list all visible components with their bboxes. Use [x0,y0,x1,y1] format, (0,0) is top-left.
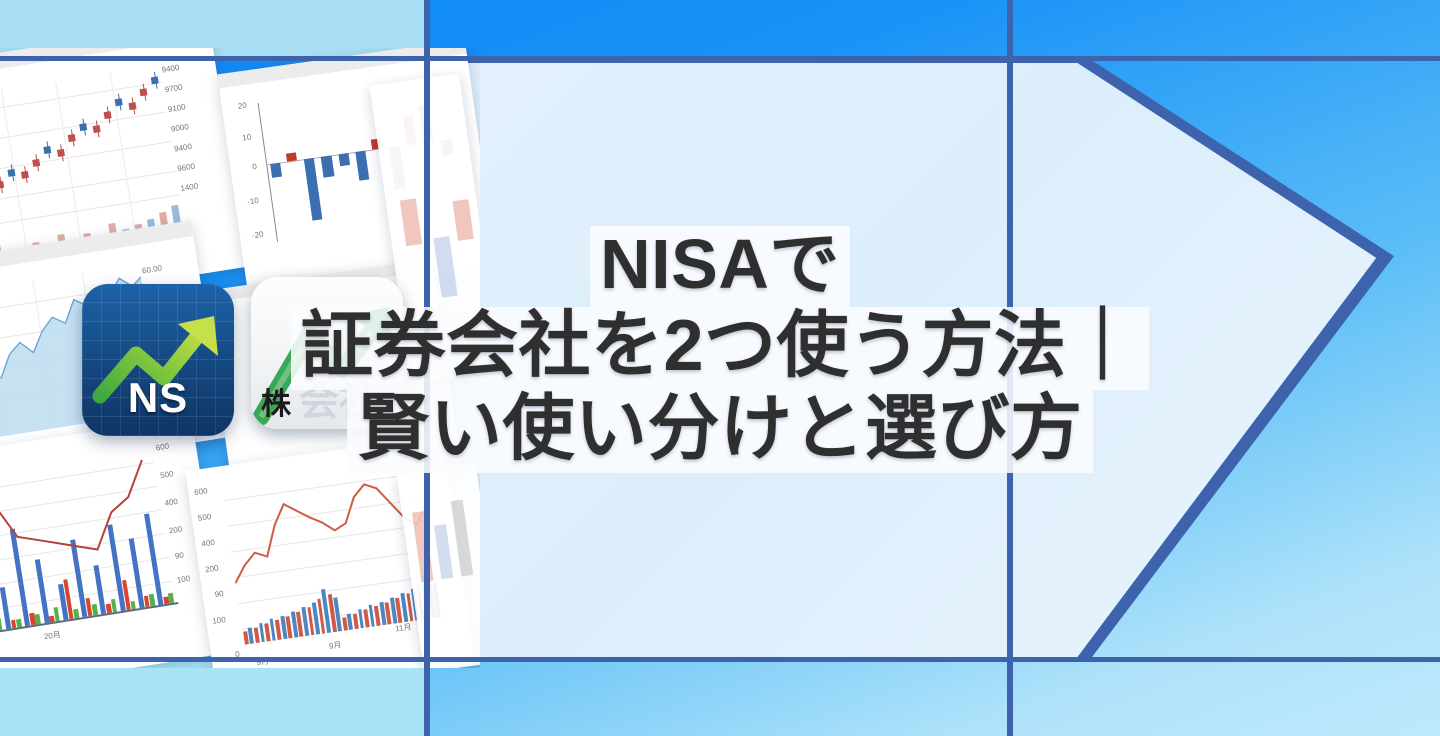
y-tick: 20 [237,101,247,111]
y-tick: 600 [194,486,208,497]
y-tick: -10 [247,196,260,207]
x-tick: 9月 [328,639,342,652]
y-tick: 9100 [167,102,186,114]
grid-line-horizontal-top [0,56,1440,61]
bar [355,151,369,181]
x-tick: 20月 [43,629,61,643]
y-tick: 9400 [174,142,193,154]
bar [321,155,334,178]
y-tick: 500 [197,512,211,523]
title-line-3-row: 賢い使い分けと選び方 [0,390,1440,473]
y-tick: 9400 [161,63,180,75]
y-tick: 9600 [177,162,196,174]
y-tick: 200 [205,564,219,575]
y-tick: 10 [242,132,252,142]
y-tick: 90 [214,589,224,599]
y-tick: 100 [212,615,226,626]
title-line-1: NISAで [590,226,850,307]
bottom-left-light-band [0,661,428,736]
title-line-1-row: NISAで [0,226,1440,307]
combo-plot [0,446,176,644]
candlestick-series [0,64,159,105]
bar [338,153,350,166]
y-tick: 9700 [164,83,183,95]
thumbnail-canvas: 株価 9400 9700 9100 9000 9400 9600 1400 9/… [0,0,1440,736]
y-tick: 90 [174,551,184,561]
bar [304,158,323,221]
y-tick: 100 [176,574,191,585]
combo-trend-line [0,446,176,644]
y-tick: 0 [252,162,258,172]
x-tick: 11月 [395,621,413,634]
bar [286,153,297,162]
page-title: NISAで 証券会社を2つ使う方法｜ 賢い使い分けと選び方 [0,226,1440,473]
y-tick: 400 [201,538,215,549]
trend-line [0,460,161,620]
grid-line-horizontal-bottom [0,657,1440,662]
y-tick: 1400 [180,181,199,193]
title-line-2: 証券会社を2つ使う方法｜ [291,307,1149,390]
title-line-2-row: 証券会社を2つ使う方法｜ [0,307,1440,390]
y-tick: 9000 [170,122,189,134]
y-tick: 200 [168,525,183,536]
volume-series [0,64,159,105]
bar [270,163,282,178]
y-tick: 400 [164,497,179,508]
title-line-3: 賢い使い分けと選び方 [347,390,1092,473]
